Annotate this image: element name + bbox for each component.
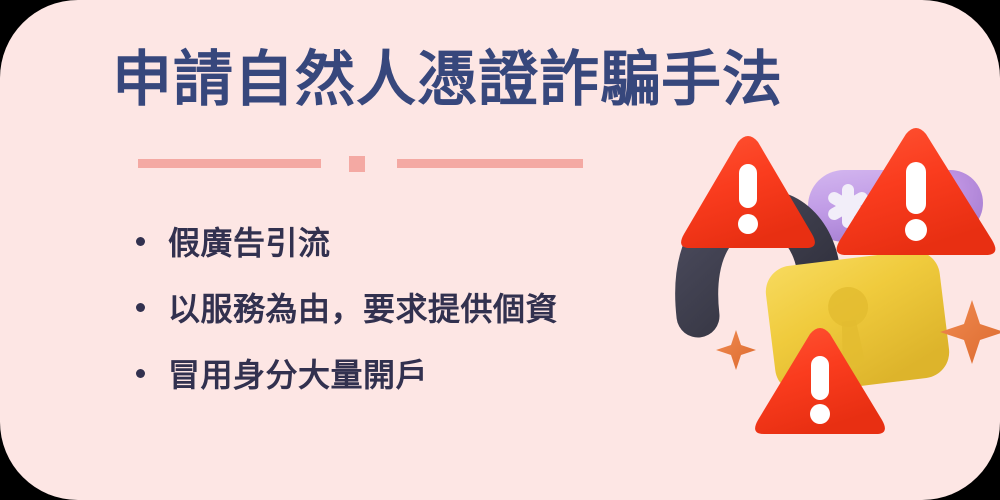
bullet-dot-icon	[136, 303, 145, 312]
bullet-dot-icon	[136, 369, 145, 378]
list-item: 假廣告引流	[136, 208, 676, 274]
list-item: 以服務為由，要求提供個資	[136, 274, 676, 340]
divider	[138, 156, 583, 170]
warning-triangle-icon	[681, 136, 815, 248]
divider-bar-right	[397, 159, 583, 168]
bullet-item-label: 假廣告引流	[168, 218, 331, 264]
info-card: 申請自然人憑證詐騙手法 假廣告引流 以服務為由，要求提供個資 冒用身分大量開戶	[0, 0, 1000, 500]
page-title: 申請自然人憑證詐騙手法	[112, 48, 792, 113]
sparkle-star-icon	[716, 330, 756, 370]
divider-square	[349, 156, 365, 172]
bullet-list: 假廣告引流 以服務為由，要求提供個資 冒用身分大量開戶	[136, 208, 676, 406]
divider-bar-left	[138, 159, 321, 168]
bullet-dot-icon	[136, 237, 145, 246]
bullet-item-label: 冒用身分大量開戶	[168, 350, 428, 396]
list-item: 冒用身分大量開戶	[136, 340, 676, 406]
security-breach-illustration	[660, 128, 1000, 458]
bullet-item-label: 以服務為由，要求提供個資	[168, 284, 558, 330]
